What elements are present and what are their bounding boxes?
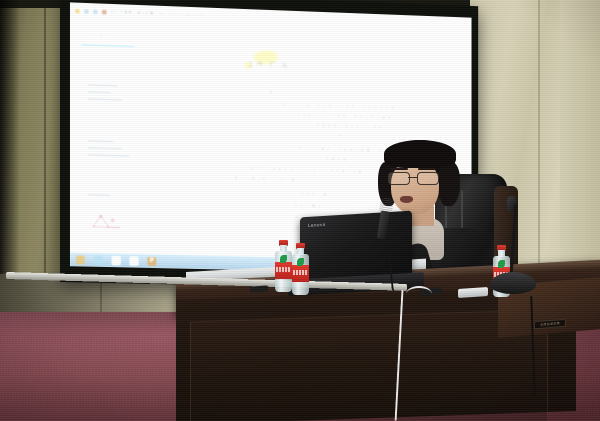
slide-heading: 工作 汇 报 bbox=[247, 60, 290, 71]
word-icon[interactable] bbox=[130, 256, 139, 265]
slide-thumbnail[interactable]: 4 bbox=[74, 186, 141, 234]
slide-text-line: 工作总结汇报 bbox=[294, 191, 328, 198]
folder-icon[interactable] bbox=[112, 256, 121, 265]
lecture-hall-photo: 幻灯片放映 演示文稿 - Microsoft PowerPoint 1 工作汇报… bbox=[0, 0, 600, 421]
slide-text-line: 二、概况 bbox=[257, 90, 280, 97]
redo-icon[interactable] bbox=[93, 9, 98, 14]
powerpoint-icon[interactable]: P bbox=[147, 256, 156, 265]
save-icon[interactable] bbox=[75, 8, 80, 13]
microphone-base-unit[interactable] bbox=[490, 272, 536, 294]
slide-text-line: 等 bbox=[339, 133, 345, 139]
glasses-bridge bbox=[408, 177, 417, 178]
power-cable-loop bbox=[406, 286, 432, 302]
ribbon-title-text: 演示文稿 - Microsoft PowerPoint bbox=[137, 10, 204, 18]
slide-text-line: 一、前言 bbox=[257, 80, 280, 87]
undo-icon[interactable] bbox=[84, 8, 89, 13]
slide-thumbnail[interactable]: 1 工作汇报总结 bbox=[74, 22, 141, 70]
slide-text-line: 质量管理、安全生产与管理 bbox=[315, 123, 383, 131]
laptop-brand-logo: Lenovo bbox=[308, 222, 326, 228]
leaf-icon bbox=[297, 258, 304, 266]
leaf-icon bbox=[280, 255, 287, 263]
chart-icon bbox=[91, 213, 125, 230]
water-bottle bbox=[275, 240, 292, 292]
desk-object bbox=[250, 285, 268, 292]
water-bottle bbox=[292, 243, 309, 295]
slide-thumbnail-panel[interactable]: 1 工作汇报总结 2 3 bbox=[74, 22, 141, 251]
slide-text-line: 经验与做法 bbox=[294, 203, 323, 210]
hair-fringe bbox=[384, 140, 456, 168]
slide-thumbnail[interactable]: 2 bbox=[74, 76, 141, 124]
bottle-label bbox=[292, 265, 309, 282]
slide-text-line: 四、存在的问题和不足——以及下一步改进的措施。 bbox=[238, 166, 369, 176]
slide-text-line: 主要措施。 bbox=[325, 157, 353, 164]
office-icon[interactable] bbox=[102, 9, 107, 14]
hair-right-side bbox=[440, 162, 460, 206]
eyebrow-right bbox=[418, 168, 436, 170]
eyeglasses bbox=[388, 172, 440, 184]
eyebrow-left bbox=[390, 168, 408, 170]
bottle-label bbox=[275, 262, 292, 279]
start-button[interactable] bbox=[76, 255, 85, 264]
ie-icon[interactable] bbox=[94, 255, 103, 264]
lens-right bbox=[417, 172, 439, 185]
leaf-icon bbox=[498, 260, 505, 268]
lens-left bbox=[388, 172, 410, 185]
slide-text-line: 五、意见与建议和下一步打算 bbox=[222, 175, 297, 183]
slide-text-line: 主要工作内容：完成情况、年度计划指标完成情况 bbox=[277, 102, 402, 112]
ribbon-tab-label[interactable]: 幻灯片放映 bbox=[111, 9, 133, 16]
slide-text-line: 完成情况、工作进度、各项业务开展情况 bbox=[296, 112, 398, 121]
slide-thumbnail[interactable]: 3 bbox=[74, 131, 141, 179]
slide-accent-rule bbox=[81, 44, 135, 48]
mouth bbox=[400, 196, 413, 203]
slide-thumbnail-title: 工作汇报总结 bbox=[87, 33, 138, 40]
